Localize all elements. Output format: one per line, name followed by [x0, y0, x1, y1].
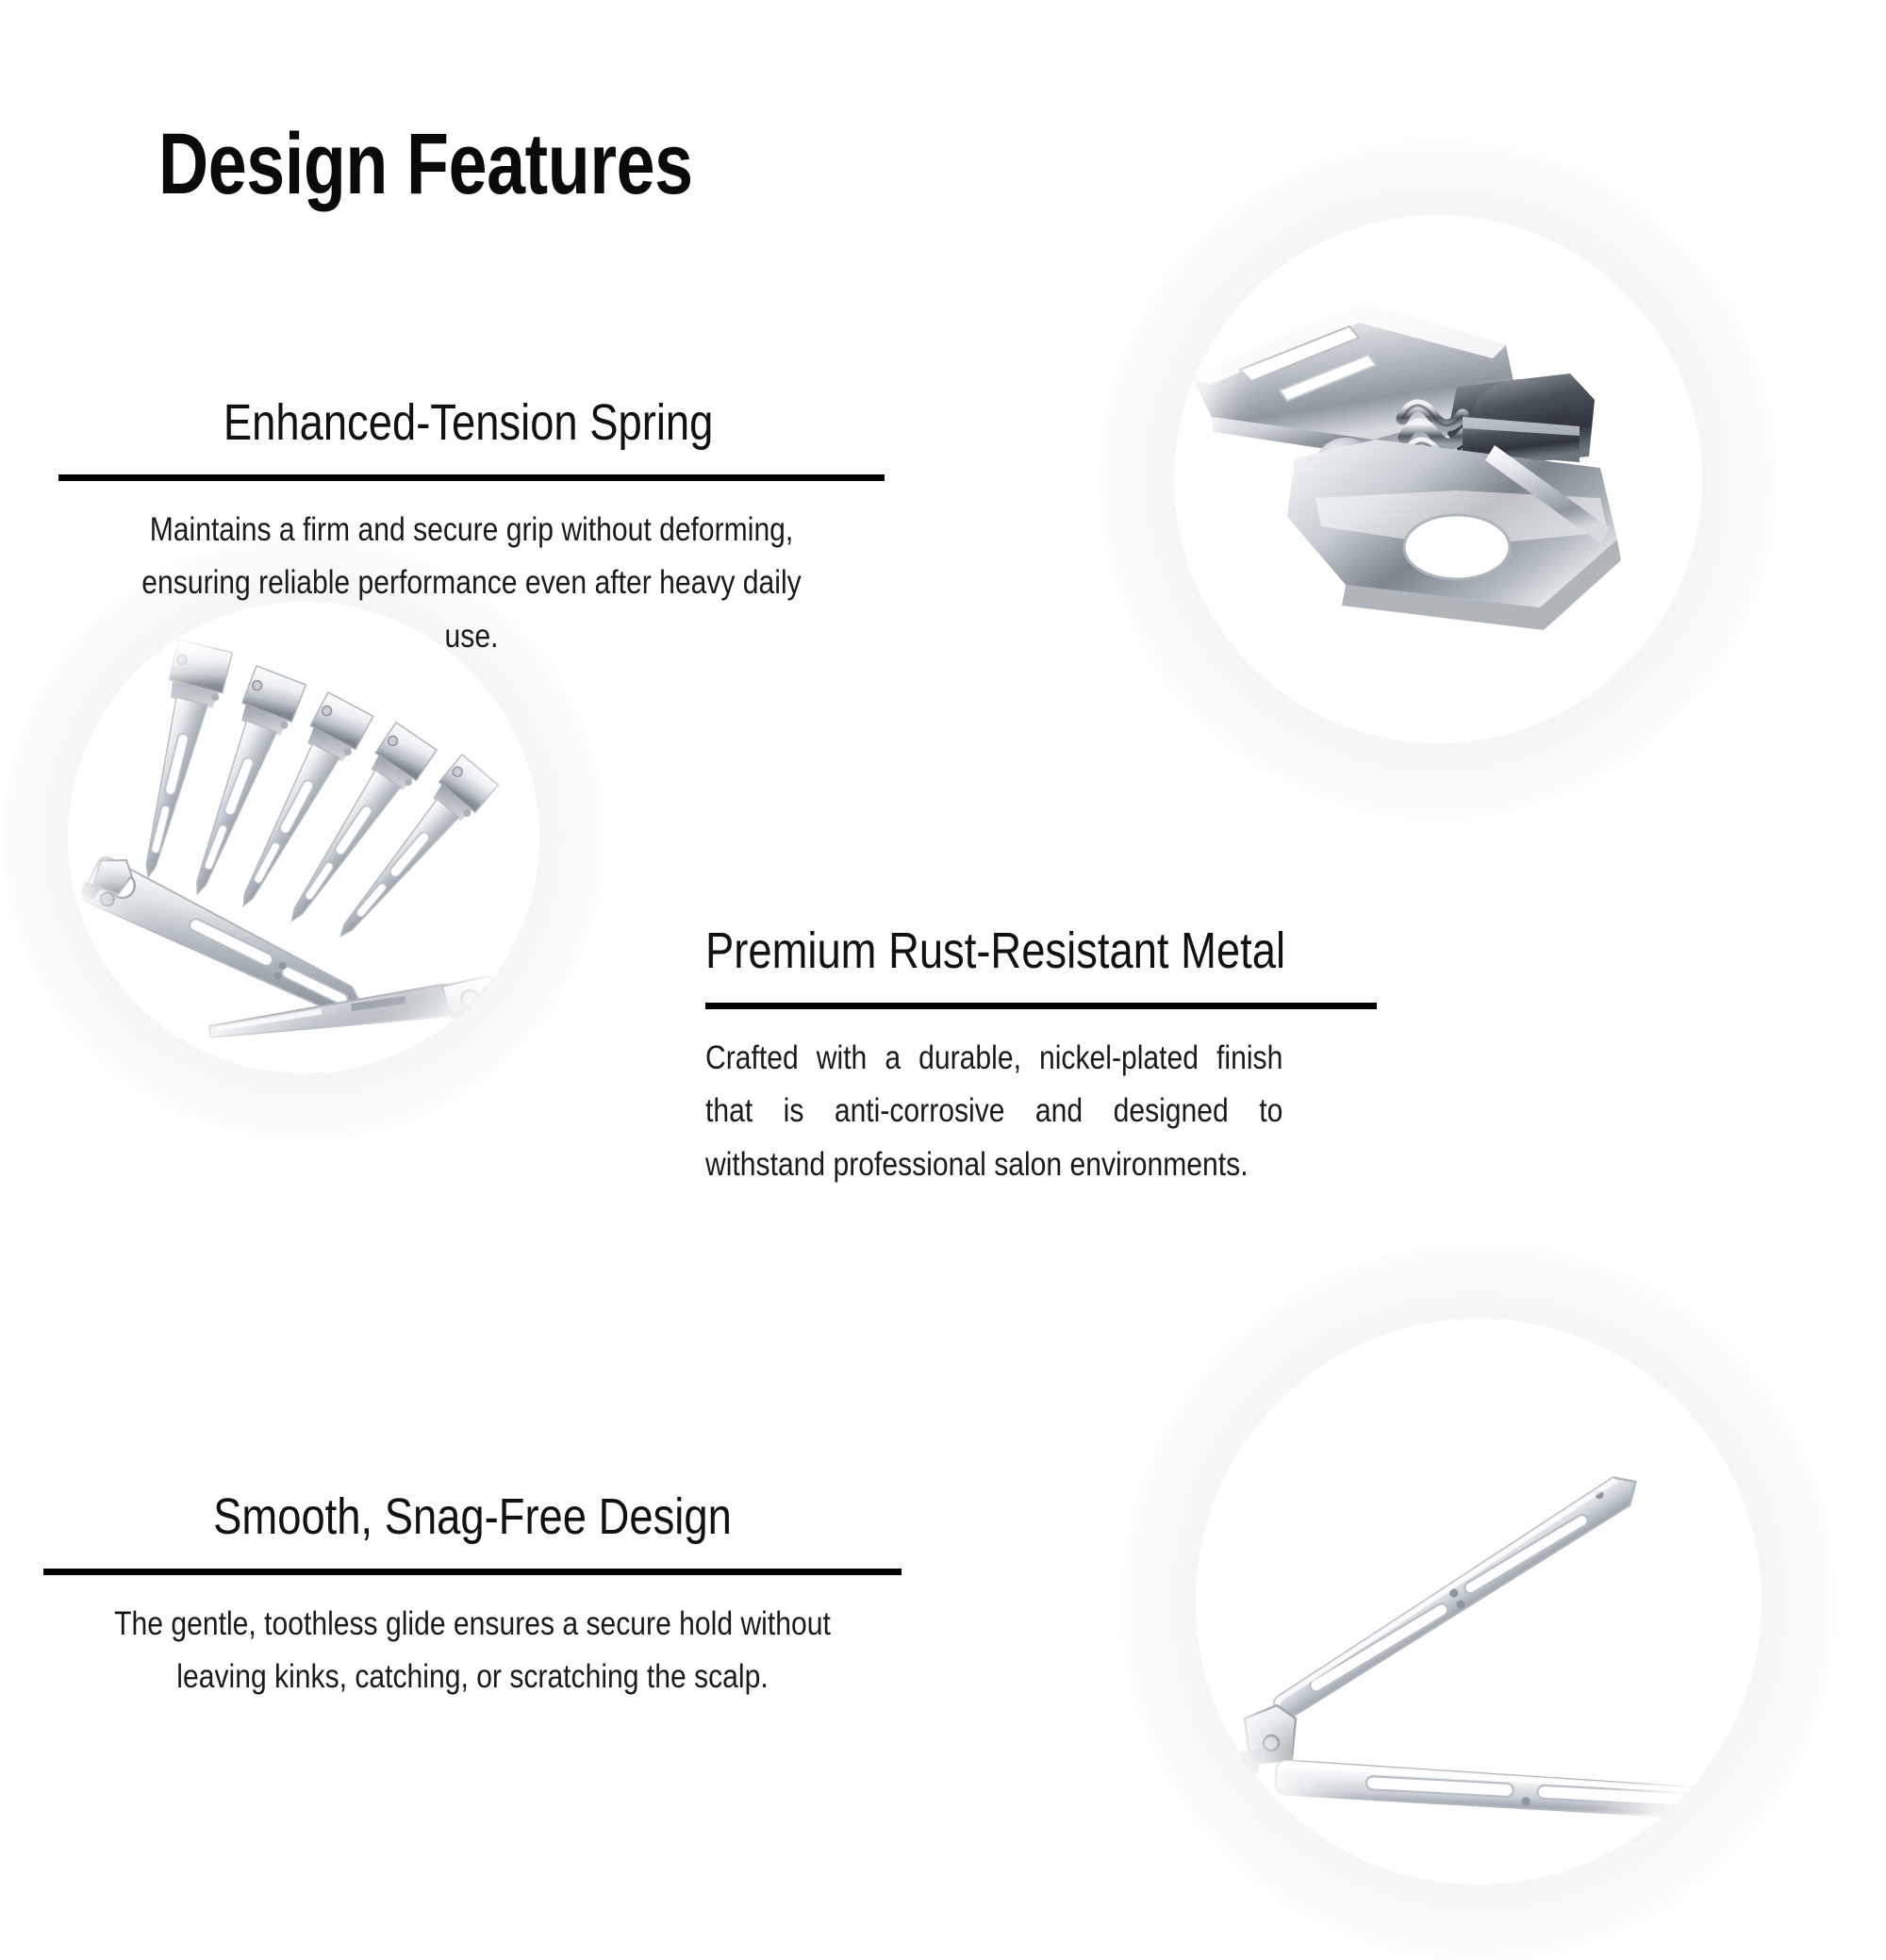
feature-heading: Smooth, Snag-Free Design — [112, 1490, 833, 1544]
feature-body: Maintains a firm and secure grip without… — [116, 504, 826, 664]
feature-divider — [705, 1003, 1377, 1009]
feature-divider — [43, 1569, 902, 1575]
feature-heading: Enhanced-Tension Spring — [124, 396, 819, 450]
feature-smooth-snag-free-design: Smooth, Snag-Free Design The gentle, too… — [43, 1490, 902, 1704]
clip-set-photo — [68, 602, 539, 1073]
feature-divider — [58, 474, 885, 481]
clip-open-photo — [1196, 1319, 1762, 1885]
feature-premium-rust-resistant-metal: Premium Rust-Resistant Metal Crafted wit… — [705, 924, 1377, 1192]
feature-body: The gentle, toothless glide ensures a se… — [104, 1598, 842, 1704]
feature-enhanced-tension-spring: Enhanced-Tension Spring Maintains a firm… — [58, 396, 885, 664]
clip-spring-closeup-photo — [1174, 215, 1702, 743]
page-title: Design Features — [158, 121, 693, 208]
feature-body: Crafted with a durable, nickel-plated fi… — [705, 1032, 1282, 1192]
feature-heading: Premium Rust-Resistant Metal — [705, 924, 1269, 978]
